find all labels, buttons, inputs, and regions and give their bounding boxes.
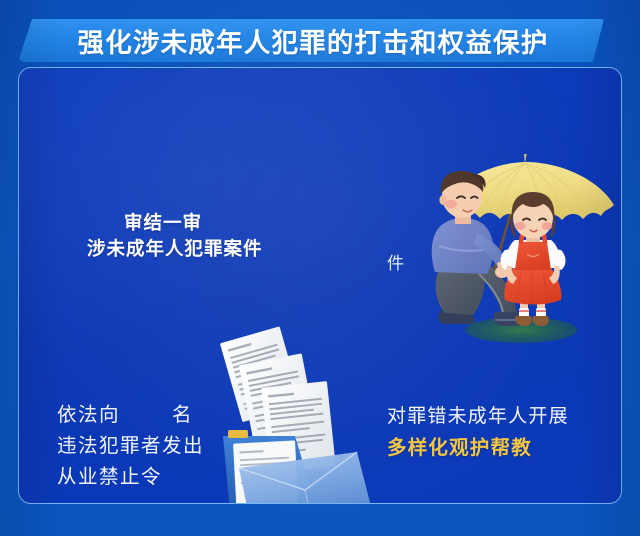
umbrella-protection-illustration [417, 150, 622, 356]
stat-guardianship-line2: 多样化观护帮教 [387, 433, 569, 465]
stat-employment-ban-line3: 从业禁止令 [57, 462, 204, 493]
stat-employment-ban-unit: 名 [172, 400, 193, 431]
adult-cheek [445, 200, 457, 209]
stat-employment-ban-line1: 依法向名 [57, 400, 204, 431]
stat-guardianship-line1: 对罪错未成年人开展 [387, 402, 569, 433]
stat-cases-concluded: 审结一审 涉未成年人犯罪案件 [87, 210, 263, 263]
stat-cases-concluded-unit: 件 [387, 249, 405, 274]
folder-tab [228, 430, 248, 438]
content-panel: 审结一审 涉未成年人犯罪案件 件 依法向名 违法犯罪者发出 从业禁止令 对罪错未… [18, 67, 622, 504]
child-cheek [515, 222, 526, 230]
page-title: 强化涉未成年人犯罪的打击和权益保护 [18, 19, 604, 62]
folder-documents-illustration [195, 318, 385, 504]
stat-guardianship-education: 对罪错未成年人开展 多样化观护帮教 [387, 402, 569, 464]
header-banner: 强化涉未成年人犯罪的打击和权益保护 [18, 19, 604, 62]
stat-employment-ban-line2: 违法犯罪者发出 [57, 431, 204, 462]
stat-employment-ban-prefix: 依法向 [57, 404, 120, 426]
infographic-root: 强化涉未成年人犯罪的打击和权益保护 审结一审 涉未成年人犯罪案件 件 依法向名 … [0, 0, 640, 536]
stat-employment-ban-orders: 依法向名 违法犯罪者发出 从业禁止令 [57, 400, 204, 492]
stat-cases-concluded-line1: 审结一审 [87, 210, 263, 236]
child-socks [519, 308, 529, 317]
stat-cases-concluded-line2: 涉未成年人犯罪案件 [87, 236, 263, 262]
